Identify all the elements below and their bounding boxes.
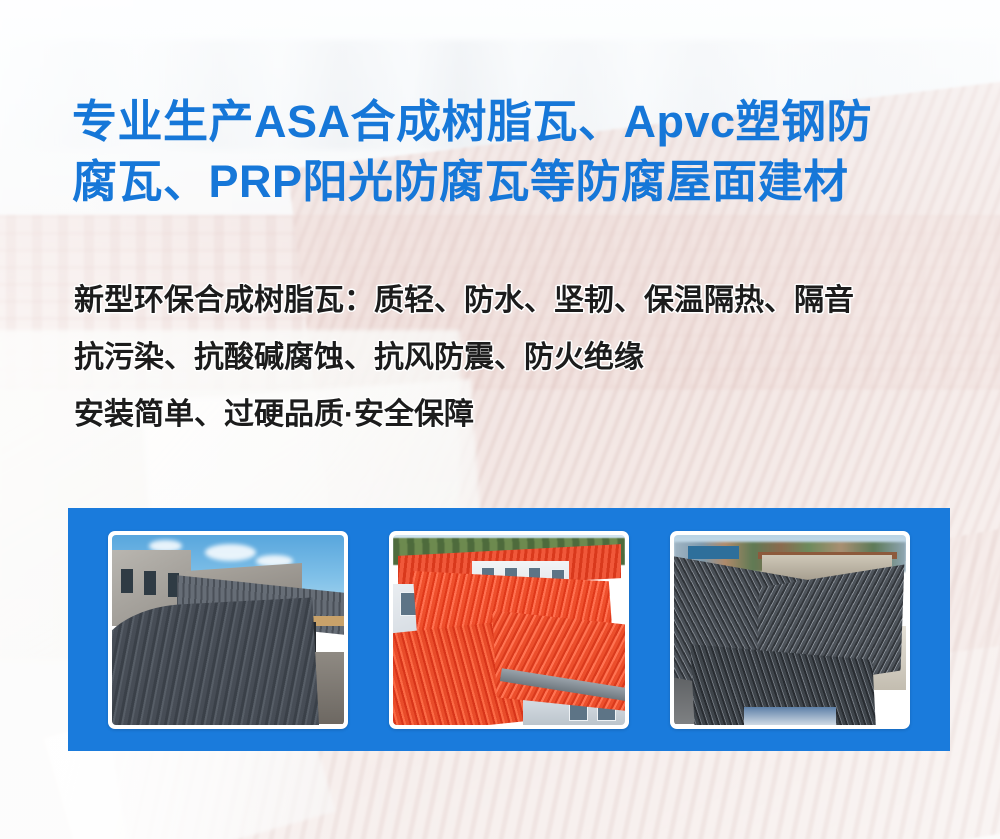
promo-banner: 专业生产ASA合成树脂瓦、Apvc塑钢防 腐瓦、PRP阳光防腐瓦等防腐屋面建材 … <box>0 0 1000 839</box>
subheadline-line-3: 安装简单、过硬品质·安全保障 <box>74 386 974 443</box>
headline-line-1: 专业生产ASA合成树脂瓦、Apvc塑钢防 <box>72 92 952 152</box>
photo-dark-grey-resin-tile-roof-village <box>674 535 906 725</box>
subheadline: 新型环保合成树脂瓦：质轻、防水、坚韧、保温隔热、隔音 抗污染、抗酸碱腐蚀、抗风防… <box>74 272 974 443</box>
photo-red-resin-tile-roof-villas <box>393 535 625 725</box>
subheadline-line-1: 新型环保合成树脂瓦：质轻、防水、坚韧、保温隔热、隔音 <box>74 272 974 329</box>
headline-line-2: 腐瓦、PRP阳光防腐瓦等防腐屋面建材 <box>72 152 952 212</box>
photo-frame-1[interactable] <box>108 531 348 729</box>
photo-grey-resin-tile-roof-courtyard <box>112 535 344 725</box>
headline: 专业生产ASA合成树脂瓦、Apvc塑钢防 腐瓦、PRP阳光防腐瓦等防腐屋面建材 <box>72 92 952 212</box>
subheadline-line-2: 抗污染、抗酸碱腐蚀、抗风防震、防火绝缘 <box>74 329 974 386</box>
photo-frame-2[interactable] <box>389 531 629 729</box>
gallery-panel <box>68 508 950 751</box>
photo-frame-3[interactable] <box>670 531 910 729</box>
